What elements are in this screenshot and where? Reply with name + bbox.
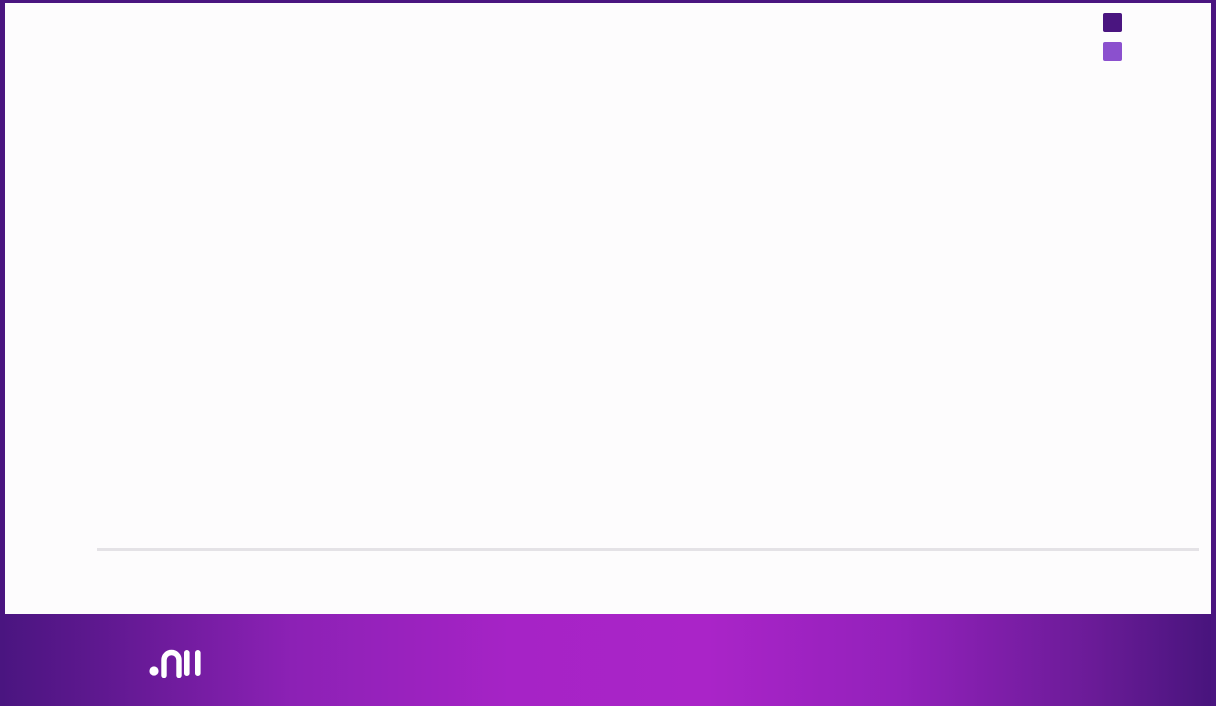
bar-group — [105, 107, 1195, 548]
legend-item-air-cooled[interactable] — [1103, 13, 1133, 32]
infographic-canvas — [0, 0, 1216, 706]
y-axis — [39, 107, 95, 551]
legend-swatch-air-cooled — [1103, 13, 1122, 32]
x-axis-baseline — [97, 548, 1199, 551]
chart-header — [29, 17, 729, 24]
legend-swatch-liquid-cooled — [1103, 42, 1122, 61]
chart-plot-area — [5, 107, 1211, 603]
market-us-bars-logo-icon — [148, 638, 206, 683]
chart-legend — [1103, 13, 1133, 61]
legend-item-liquid-cooled[interactable] — [1103, 42, 1133, 61]
market-us-logo[interactable] — [148, 638, 216, 683]
footer-banner — [0, 614, 1216, 706]
